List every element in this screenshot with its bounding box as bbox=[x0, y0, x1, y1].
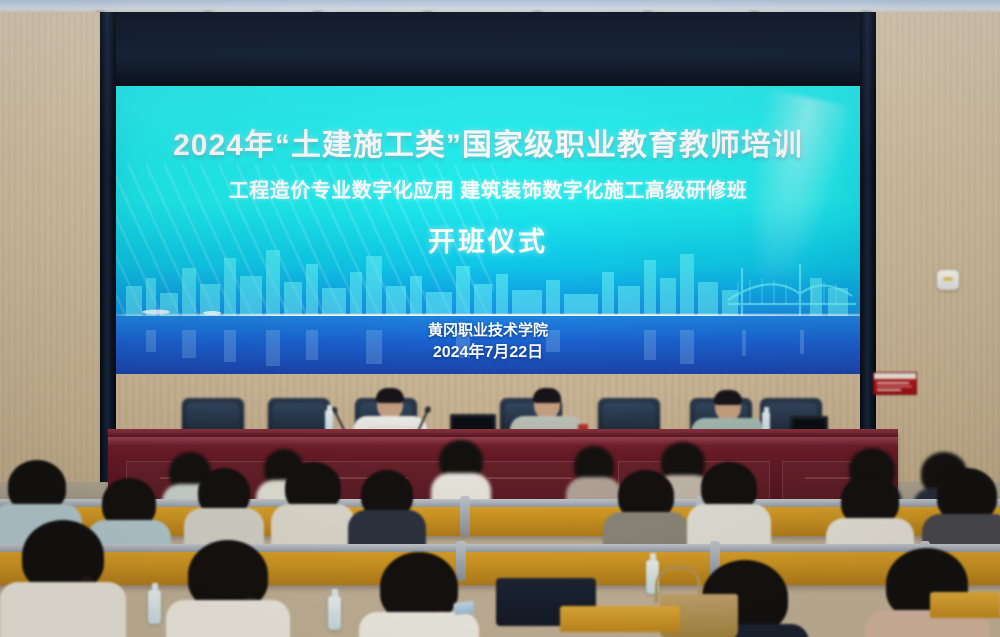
wall-panel-right bbox=[876, 12, 1000, 482]
phone bbox=[453, 601, 474, 616]
photo-scene: 2024年“土建施工类”国家级职业教育教师培训 工程造价专业数字化应用 建筑装饰… bbox=[0, 0, 1000, 637]
screen-frame-right bbox=[860, 12, 876, 482]
screen-organization: 黄冈职业技术学院 bbox=[116, 319, 860, 340]
screen-date: 2024年7月22日 bbox=[116, 338, 860, 362]
audience-person bbox=[438, 440, 484, 502]
person-head bbox=[534, 390, 560, 419]
screen-subtitle: 工程造价专业数字化应用 建筑装饰数字化施工高级研修班 bbox=[116, 174, 860, 203]
person-head bbox=[377, 390, 403, 419]
red-notice-sign bbox=[873, 372, 917, 395]
screen-event-name: 开班仪式 bbox=[116, 220, 860, 259]
person-hair bbox=[714, 390, 742, 405]
led-screen: 2024年“土建施工类”国家级职业教育教师培训 工程造价专业数字化应用 建筑装饰… bbox=[116, 86, 860, 374]
wifi-access-point-icon bbox=[937, 270, 959, 290]
person-head bbox=[715, 392, 741, 421]
audience-person bbox=[360, 470, 414, 554]
screen-frame-top bbox=[100, 12, 876, 86]
audience-person bbox=[378, 552, 460, 637]
audience-person bbox=[20, 520, 106, 637]
audience-person bbox=[700, 462, 758, 550]
seat-back bbox=[930, 592, 1000, 618]
screen-frame-left bbox=[100, 12, 116, 482]
audience-person bbox=[186, 540, 270, 637]
ceiling-cove-light bbox=[0, 0, 1000, 9]
audience-person bbox=[284, 462, 342, 550]
wall-panel-left bbox=[0, 12, 100, 482]
person-hair bbox=[376, 388, 404, 403]
seat-back bbox=[560, 606, 680, 632]
screen-title: 2024年“土建施工类”国家级职业教育教师培训 bbox=[116, 120, 860, 164]
audience-person bbox=[572, 446, 616, 506]
water-bottle bbox=[148, 590, 161, 624]
person-hair bbox=[533, 388, 561, 403]
water-bottle bbox=[328, 596, 341, 630]
